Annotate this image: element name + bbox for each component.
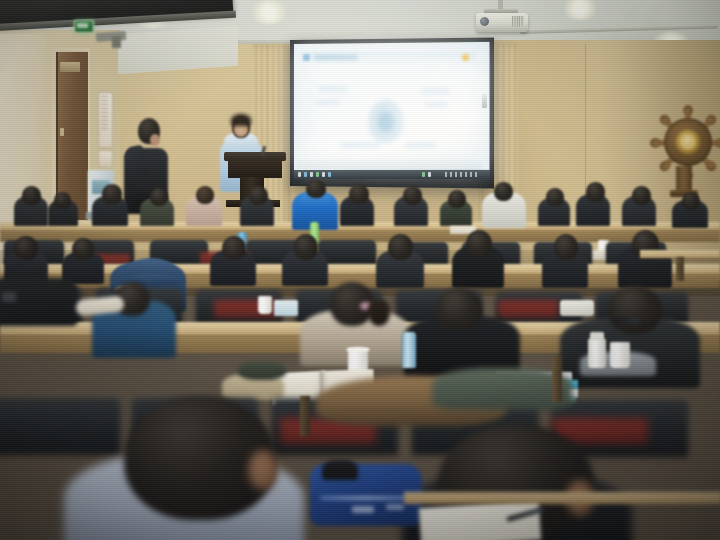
audience-head <box>632 186 651 205</box>
screen-side-tab <box>482 94 487 108</box>
standing-person-hand <box>150 134 160 146</box>
downlight-icon <box>573 0 585 9</box>
wall-display-bracket <box>112 36 121 48</box>
taskbar-icon <box>422 172 425 177</box>
tissue-pack <box>274 300 298 316</box>
taskbar-icon <box>298 172 301 177</box>
desk-leg <box>300 396 310 436</box>
audience-head <box>466 230 492 257</box>
slide-footer-bar <box>296 160 482 170</box>
foreground-ear <box>248 450 278 490</box>
audience-head <box>54 192 71 209</box>
audience-head <box>448 190 466 208</box>
dark-backpack <box>0 278 78 326</box>
audience-head <box>102 184 122 204</box>
white-bottle <box>588 338 606 368</box>
audience-head <box>222 236 246 260</box>
taskbar-icon <box>304 172 307 177</box>
audience-head <box>150 188 168 206</box>
bottle-cap <box>590 332 604 340</box>
audience-head <box>294 234 318 260</box>
clock-dial <box>680 134 696 150</box>
lecture-hall-photo <box>0 0 720 540</box>
slide-text-block <box>316 100 340 105</box>
audience-head <box>306 180 326 198</box>
slide-text-block <box>424 102 448 107</box>
audience-head <box>388 234 413 260</box>
wall-notice <box>98 150 113 168</box>
water-bottle <box>402 332 416 368</box>
taskbar-icon <box>316 172 319 177</box>
audience-head <box>196 186 214 204</box>
side-table-leg <box>676 257 684 281</box>
slide-title-text <box>314 55 358 60</box>
audience-head <box>249 186 268 205</box>
door-top-plate <box>60 62 80 72</box>
audience-head <box>586 182 605 202</box>
desk-leg <box>552 356 562 402</box>
backpack-buckle-icon <box>2 292 16 302</box>
taskbar-icon <box>428 172 431 177</box>
presenter-hair <box>231 114 251 126</box>
slide-text-block <box>420 88 450 94</box>
backpack-logo-icon <box>386 504 404 510</box>
white-package <box>560 300 594 316</box>
slide-text-block <box>340 142 380 148</box>
taskbar-icon <box>322 172 325 177</box>
audience-head <box>403 186 422 205</box>
taskbar-icon <box>328 172 331 177</box>
audience-head <box>349 184 369 204</box>
audience-head <box>14 236 38 260</box>
paper-cup <box>610 342 630 368</box>
folded-clothing <box>238 362 286 380</box>
lectern <box>228 160 282 178</box>
door-handle[interactable] <box>60 128 64 136</box>
audience-head <box>682 192 700 210</box>
audience-head <box>436 288 482 330</box>
seat-back <box>0 398 120 454</box>
exit-sign-glyph-icon <box>77 23 88 28</box>
ponytail <box>368 300 390 326</box>
paper-cup <box>258 296 272 314</box>
slide-text-block <box>318 86 348 92</box>
slide-text-block <box>404 142 436 148</box>
slide-logo-icon <box>303 54 310 61</box>
projector-vent <box>512 16 524 27</box>
taskbar-tray <box>445 172 479 177</box>
audience-head <box>494 182 513 201</box>
projector-lens-icon <box>480 17 489 26</box>
seat-cushion <box>498 300 558 318</box>
audience-head <box>72 238 94 260</box>
eyeglasses-icon <box>614 318 640 324</box>
ships-wheel-clock <box>644 92 720 196</box>
backpack-strap <box>322 460 358 480</box>
audience-head <box>608 286 662 334</box>
downlight-icon <box>261 4 274 13</box>
upper-wall-band <box>118 26 238 74</box>
audience-head <box>546 188 564 206</box>
taskbar-icon <box>310 172 313 177</box>
desk-edge-foreground <box>404 492 720 504</box>
coat-on-chair <box>432 368 572 410</box>
wall-notice-text <box>101 96 108 132</box>
paper-cup-lip <box>346 347 370 352</box>
slide-accent-icon <box>461 53 470 62</box>
audience-head <box>554 234 578 260</box>
audience-head <box>22 186 41 205</box>
backpack-zipper <box>320 496 412 500</box>
slide-diagram-core <box>378 112 394 132</box>
backpack-logo-icon <box>352 506 374 513</box>
